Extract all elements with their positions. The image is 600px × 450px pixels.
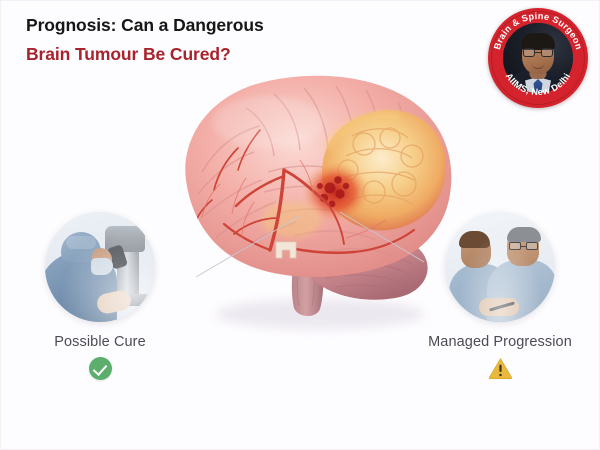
infographic-canvas: Prognosis: Can a Dangerous Brain Tumour …	[0, 0, 600, 450]
badge-bottom-arc-label: AIIMS, New Delhi	[504, 71, 573, 97]
badge-top-arc-label: Brain & Spine Surgeon	[492, 11, 584, 51]
surgeon-at-microscope-photo	[45, 212, 155, 322]
badge-arc-text: Brain & Spine Surgeon AIIMS, New Delhi	[488, 8, 588, 108]
warning-triangle-icon	[488, 357, 512, 381]
outcome-label-possible-cure: Possible Cure	[20, 334, 180, 350]
page-title: Prognosis: Can a Dangerous Brain Tumour …	[26, 14, 264, 66]
outcome-label-managed-progression: Managed Progression	[420, 334, 580, 350]
outcome-possible-cure[interactable]: Possible Cure	[20, 212, 180, 381]
doctor-consulting-patient-photo	[445, 212, 555, 322]
title-line-primary: Prognosis: Can a Dangerous	[26, 14, 264, 36]
outcome-managed-progression[interactable]: Managed Progression	[420, 212, 580, 381]
title-line-secondary: Brain Tumour Be Cured?	[26, 43, 264, 65]
check-circle-icon	[88, 357, 112, 381]
credential-badge: Brain & Spine Surgeon AIIMS, New Delhi	[488, 8, 588, 108]
